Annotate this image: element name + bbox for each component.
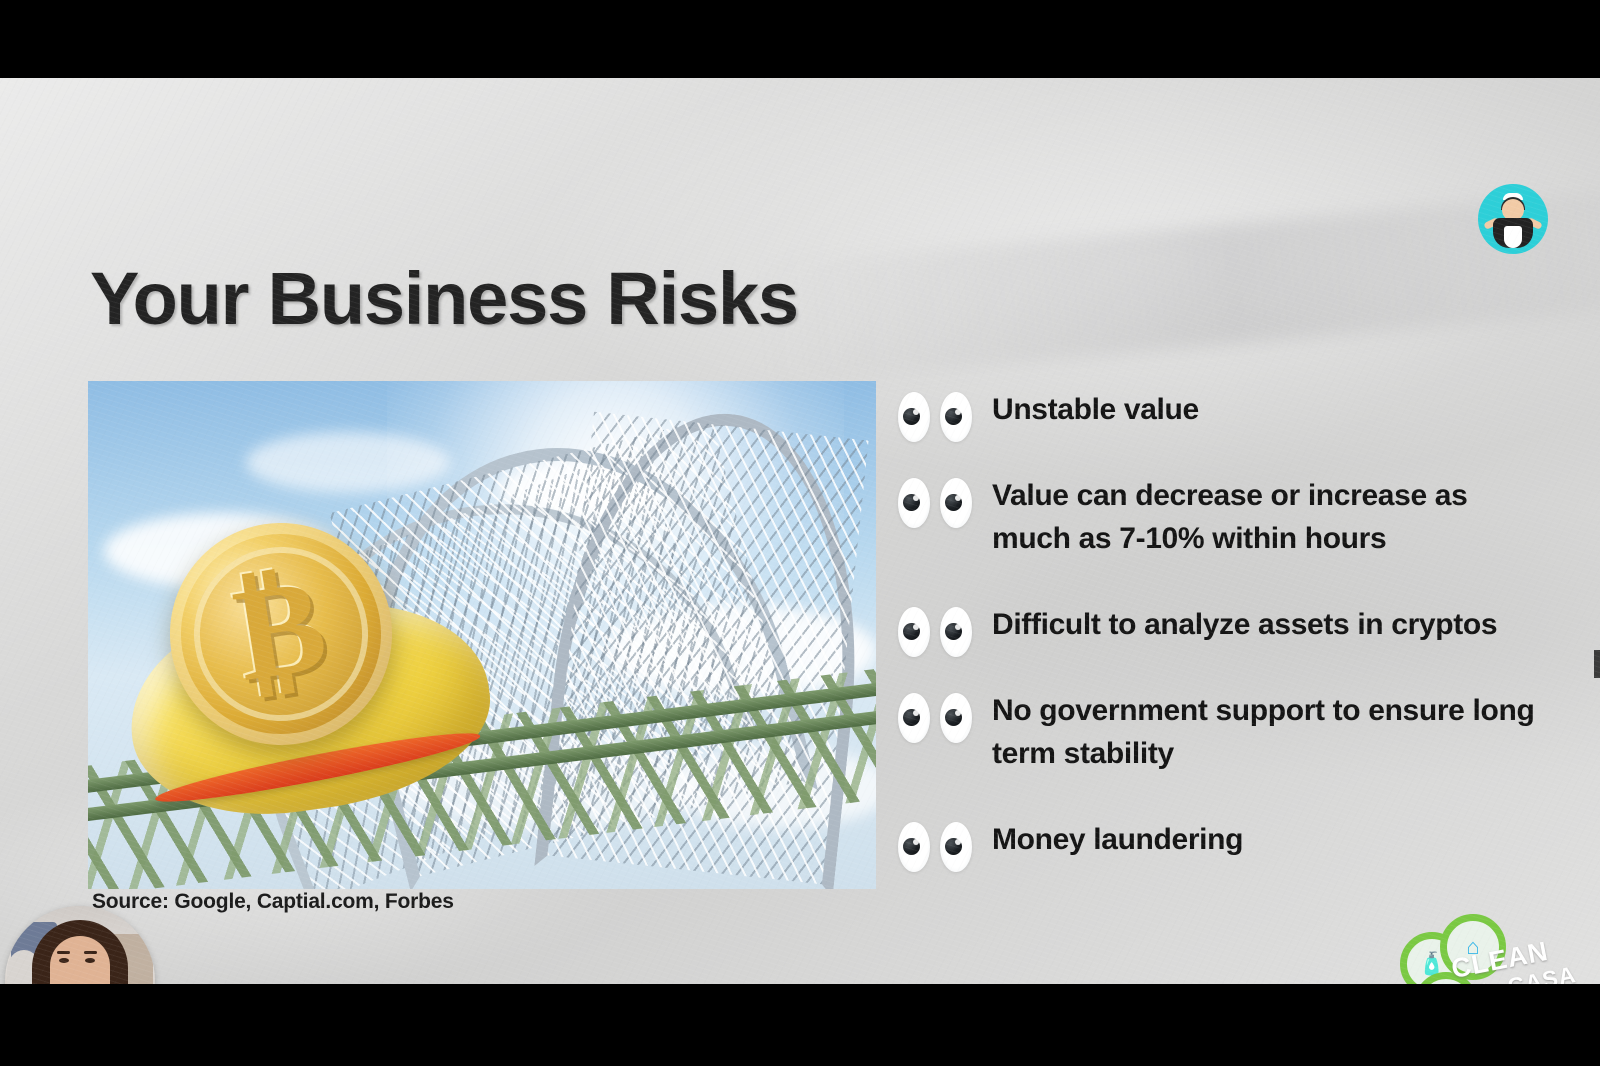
right-edge-artifact — [1594, 650, 1600, 678]
list-item-label: Money laundering — [992, 818, 1243, 861]
eyes-icon — [898, 392, 972, 442]
list-item: Money laundering — [898, 818, 1243, 872]
background-smudge — [756, 191, 1600, 385]
list-item: Unstable value — [898, 388, 1199, 442]
eyes-icon — [898, 607, 972, 657]
letterbox-bottom — [0, 984, 1600, 1066]
list-item: Difficult to analyze assets in cryptos — [898, 603, 1497, 657]
letterbox-top — [0, 0, 1600, 78]
slide-canvas: Your Business Risks — [0, 78, 1600, 984]
presenter-webcam-bubble[interactable] — [5, 906, 155, 984]
eyes-icon — [898, 693, 972, 743]
coin-inner-ring: ₿ — [182, 535, 380, 733]
maid-avatar-icon — [1478, 184, 1548, 254]
presenter-brow — [57, 951, 70, 954]
bitcoin-rollercoaster-photo: ₿ — [88, 381, 876, 889]
page-title: Your Business Risks — [90, 256, 798, 341]
presenter-eye — [59, 958, 69, 963]
list-item-label: Unstable value — [992, 388, 1199, 431]
company-logo: 🧴 ⌂ ♿ CLEAN Tu CASA CLEANING · ORGANIZIN… — [1396, 914, 1576, 984]
list-item: No government support to ensure long ter… — [898, 689, 1537, 775]
list-item-label: No government support to ensure long ter… — [992, 689, 1537, 775]
list-item-label: Difficult to analyze assets in cryptos — [992, 603, 1497, 646]
presenter-brow — [84, 951, 97, 954]
presenter-eye — [85, 958, 95, 963]
maid-apron — [1504, 226, 1522, 248]
bitcoin-symbol: ₿ — [227, 558, 335, 702]
list-item-label: Value can decrease or increase as much a… — [992, 474, 1537, 560]
eyes-icon — [898, 478, 972, 528]
eyes-icon — [898, 822, 972, 872]
cloud-shape — [246, 432, 451, 493]
presentation-screen: Your Business Risks — [0, 0, 1600, 1066]
list-item: Value can decrease or increase as much a… — [898, 474, 1537, 560]
